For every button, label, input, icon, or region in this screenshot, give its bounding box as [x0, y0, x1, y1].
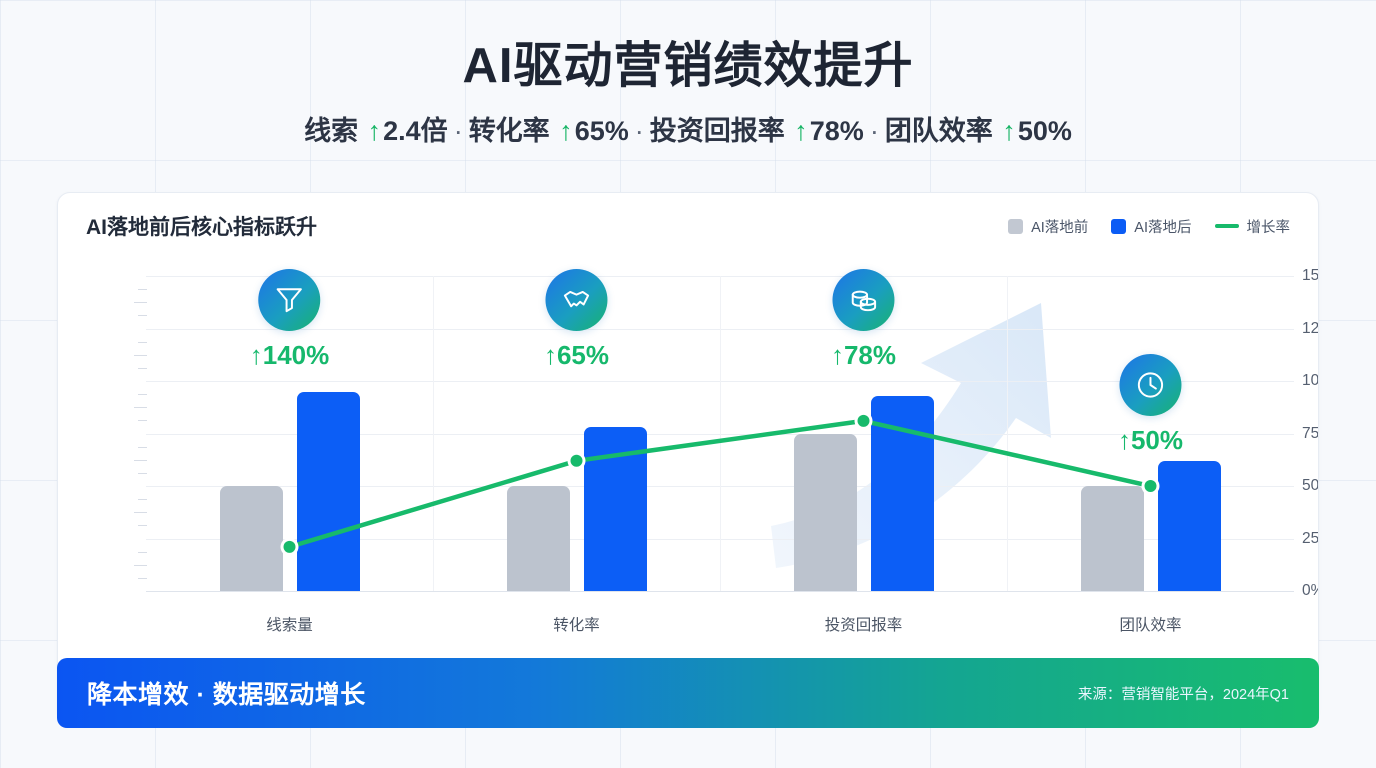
- legend-swatch: [1008, 219, 1023, 234]
- x-axis-label: 团队效率: [1119, 613, 1181, 635]
- y-axis-tick-label: 0%: [1302, 582, 1319, 600]
- legend-growth[interactable]: 增长率: [1215, 216, 1291, 237]
- legend-label: 增长率: [1247, 216, 1291, 237]
- growth-point[interactable]: [1145, 480, 1157, 492]
- up-arrow-icon: ↑: [792, 116, 810, 146]
- subtitle-separator: ·: [864, 116, 885, 146]
- subtitle-metric: 转化率 ↑65%: [469, 116, 629, 146]
- y-axis-tick-label: 50%: [1302, 477, 1319, 495]
- y-axis-tick-label: 125%: [1302, 320, 1319, 338]
- header: AI驱动营销绩效提升 线索 ↑2.4倍·转化率 ↑65%·投资回报率 ↑78%·…: [0, 36, 1376, 148]
- subtitle-metric: 线索 ↑2.4倍: [304, 116, 448, 146]
- coins-icon: [832, 269, 894, 331]
- x-axis-label: 线索量: [266, 613, 313, 635]
- growth-label: ↑78%: [831, 340, 896, 371]
- metric-annotation: ↑65%: [544, 269, 609, 371]
- clock-icon: [1119, 354, 1181, 416]
- legend-swatch: [1215, 224, 1239, 228]
- banner-title: 降本增效 · 数据驱动增长: [87, 675, 366, 711]
- chart-legend: AI落地前AI落地后增长率: [1008, 216, 1290, 237]
- subtitle-metric: 投资回报率 ↑78%: [650, 116, 864, 146]
- funnel-icon: [259, 269, 321, 331]
- x-axis-label: 投资回报率: [825, 613, 903, 635]
- y-axis-tick-label: 25%: [1302, 530, 1319, 548]
- subtitle-metric: 团队效率 ↑50%: [885, 116, 1072, 146]
- legend-label: AI落地前: [1031, 216, 1088, 237]
- metric-annotation: ↑78%: [831, 269, 896, 371]
- growth-point[interactable]: [284, 541, 296, 553]
- growth-label: ↑65%: [544, 340, 609, 371]
- growth-label: ↑50%: [1118, 425, 1183, 456]
- metric-annotation: ↑140%: [250, 269, 330, 371]
- y-axis-tick-label: 75%: [1302, 425, 1319, 443]
- y-axis-tick-label: 150%: [1302, 267, 1319, 285]
- banner-source: 来源：营销智能平台，2024年Q1: [1078, 683, 1289, 704]
- subtitle-separator: ·: [629, 116, 650, 146]
- up-arrow-icon: ↑: [1000, 116, 1018, 146]
- grid-line: [146, 591, 1294, 592]
- legend-label: AI落地后: [1134, 216, 1191, 237]
- x-axis-label: 转化率: [553, 613, 600, 635]
- growth-point[interactable]: [571, 455, 583, 467]
- y-axis-tick-label: 100%: [1302, 372, 1319, 390]
- legend-after[interactable]: AI落地后: [1111, 216, 1191, 237]
- metric-annotation: ↑50%: [1118, 354, 1183, 456]
- chart-card: AI落地前后核心指标跃升 AI落地前AI落地后增长率 0%25%50%75%10…: [57, 192, 1319, 722]
- up-arrow-icon: ↑: [366, 116, 384, 146]
- legend-before[interactable]: AI落地前: [1008, 216, 1088, 237]
- handshake-icon: [545, 269, 607, 331]
- growth-rate-polyline: [290, 421, 1151, 547]
- legend-swatch: [1111, 219, 1126, 234]
- growth-label: ↑140%: [250, 340, 330, 371]
- growth-point[interactable]: [858, 415, 870, 427]
- page-title: AI驱动营销绩效提升: [0, 36, 1376, 97]
- page-subtitle: 线索 ↑2.4倍·转化率 ↑65%·投资回报率 ↑78%·团队效率 ↑50%: [0, 109, 1376, 148]
- subtitle-separator: ·: [448, 116, 469, 146]
- chart-title: AI落地前后核心指标跃升: [86, 211, 317, 241]
- chart-header: AI落地前后核心指标跃升 AI落地前AI落地后增长率: [58, 193, 1318, 259]
- footer-banner: 降本增效 · 数据驱动增长 来源：营销智能平台，2024年Q1: [57, 658, 1319, 728]
- up-arrow-icon: ↑: [557, 116, 575, 146]
